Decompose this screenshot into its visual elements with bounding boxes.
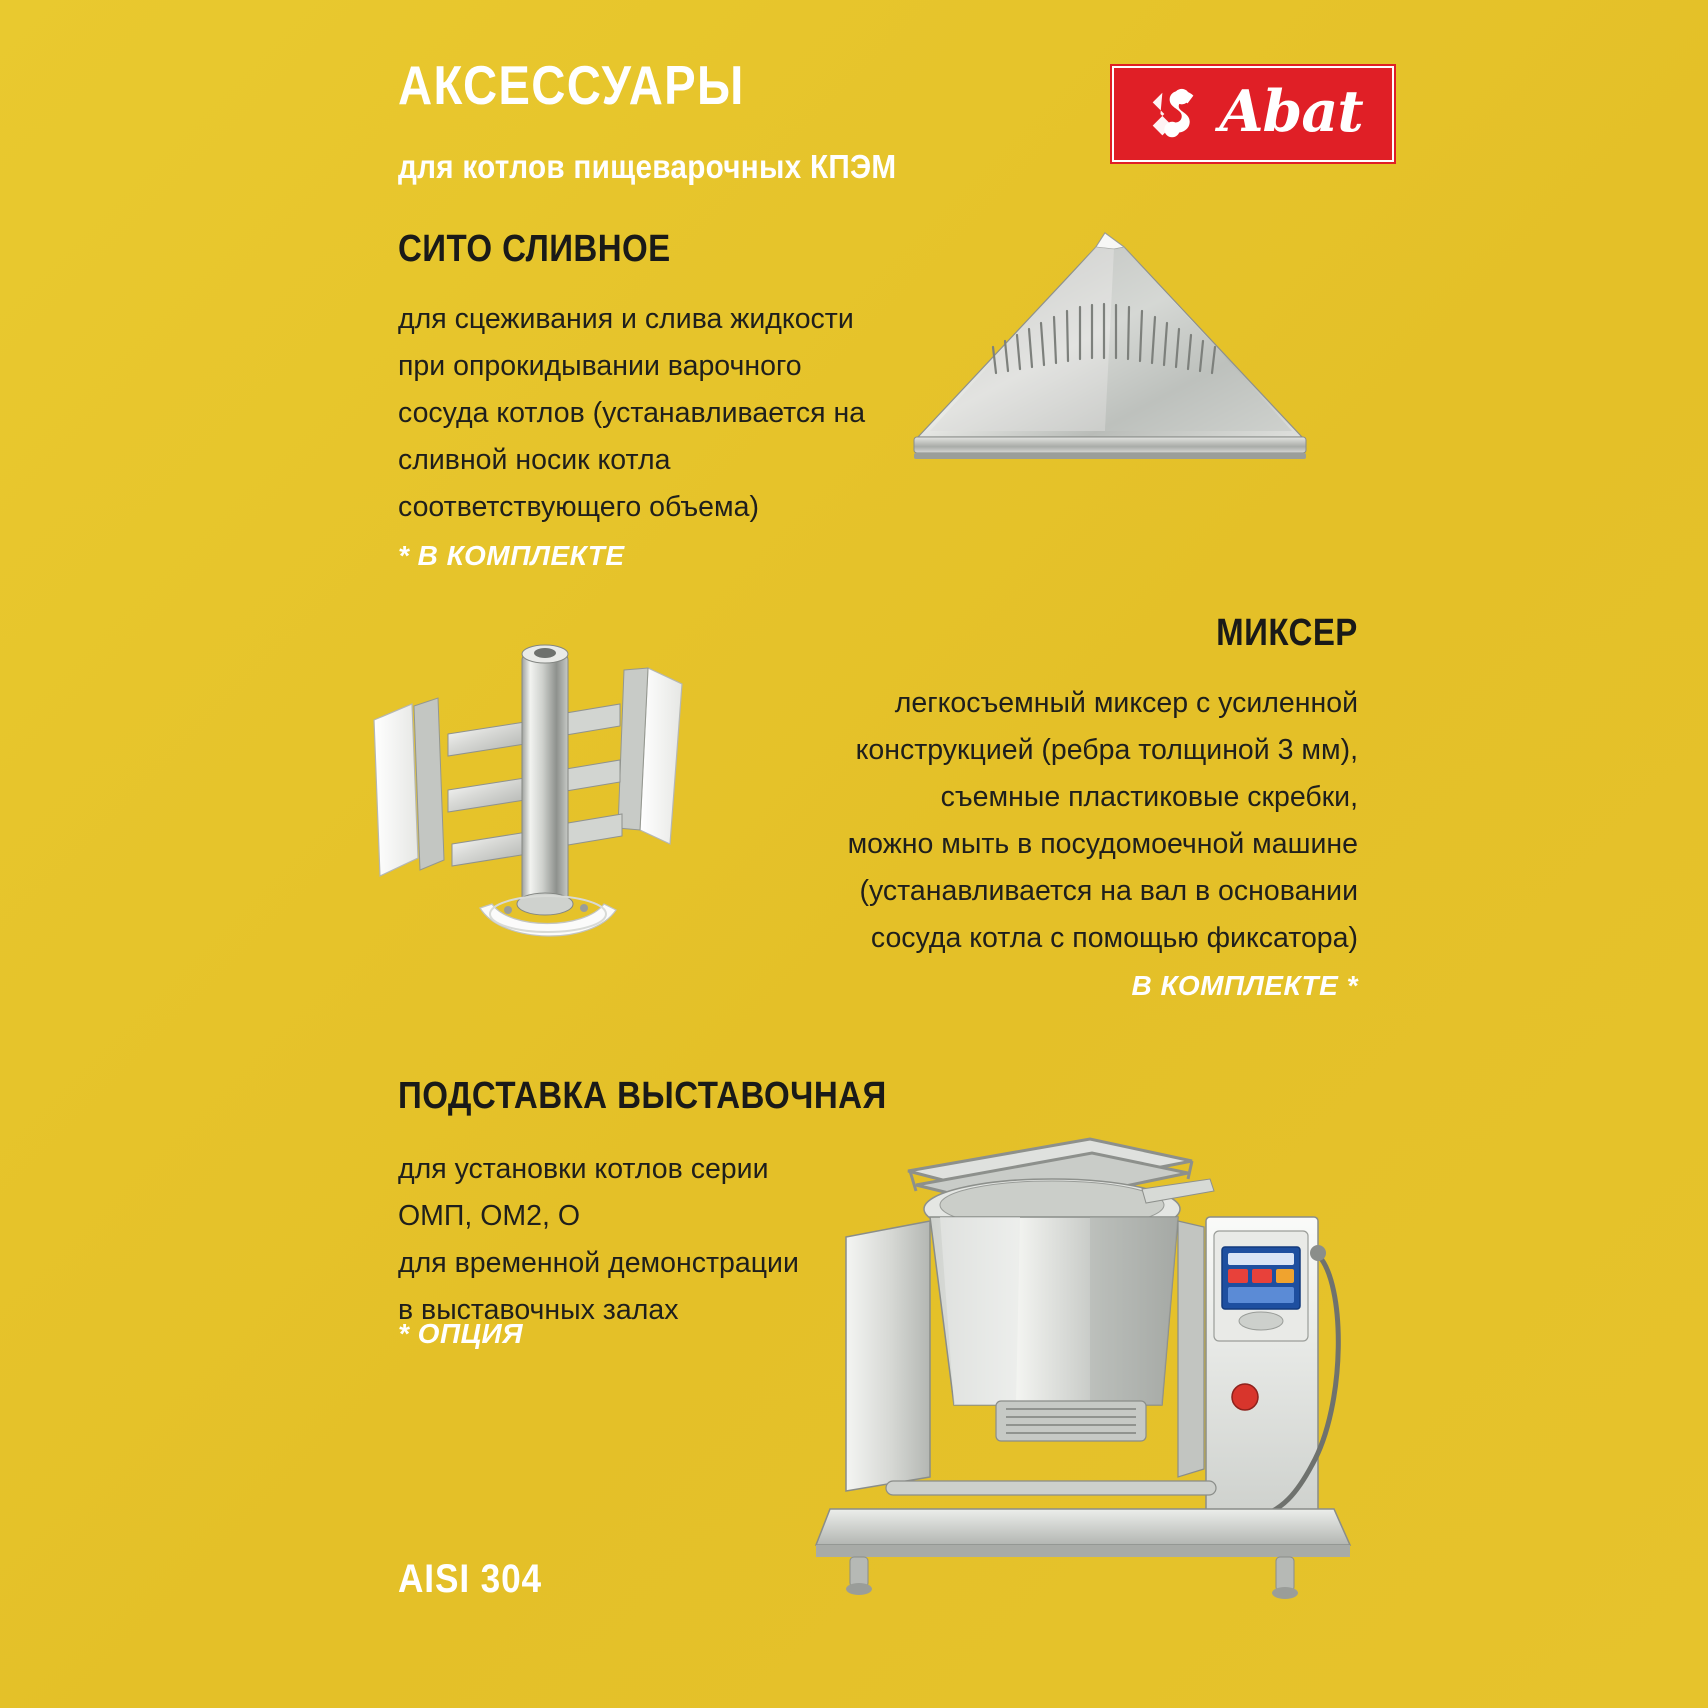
mixer-photo <box>352 608 772 968</box>
exhibition-stand-photo <box>790 1105 1370 1605</box>
section-heading-mixer: МИКСЕР <box>1216 612 1358 655</box>
section-heading-sieve: СИТО СЛИВНОЕ <box>398 228 671 271</box>
section-note-sieve: * В КОМПЛЕКТЕ <box>398 540 625 572</box>
section-note-stand: * ОПЦИЯ <box>398 1318 523 1350</box>
section-note-mixer: В КОМПЛЕКТЕ * <box>1131 970 1358 1002</box>
section-body-stand: для установки котлов серии ОМП, ОМ2, О д… <box>398 1146 858 1334</box>
page-subtitle: для котлов пищеварочных КПЭМ <box>398 148 896 186</box>
material-label: AISI 304 <box>398 1557 542 1602</box>
poster-canvas: АКСЕССУАРЫ для котлов пищеварочных КПЭМ … <box>0 0 1708 1708</box>
abat-logo: Abat <box>1112 66 1394 162</box>
drain-sieve-photo <box>900 225 1320 485</box>
page-title: АКСЕССУАРЫ <box>398 58 745 113</box>
section-body-sieve: для сцеживания и слива жидкости при опро… <box>398 296 918 531</box>
section-body-mixer: легкосъемный миксер с усиленной конструк… <box>758 680 1358 962</box>
logo-wordmark: Abat <box>1219 83 1362 146</box>
abat-swirl-mark <box>1143 83 1205 145</box>
